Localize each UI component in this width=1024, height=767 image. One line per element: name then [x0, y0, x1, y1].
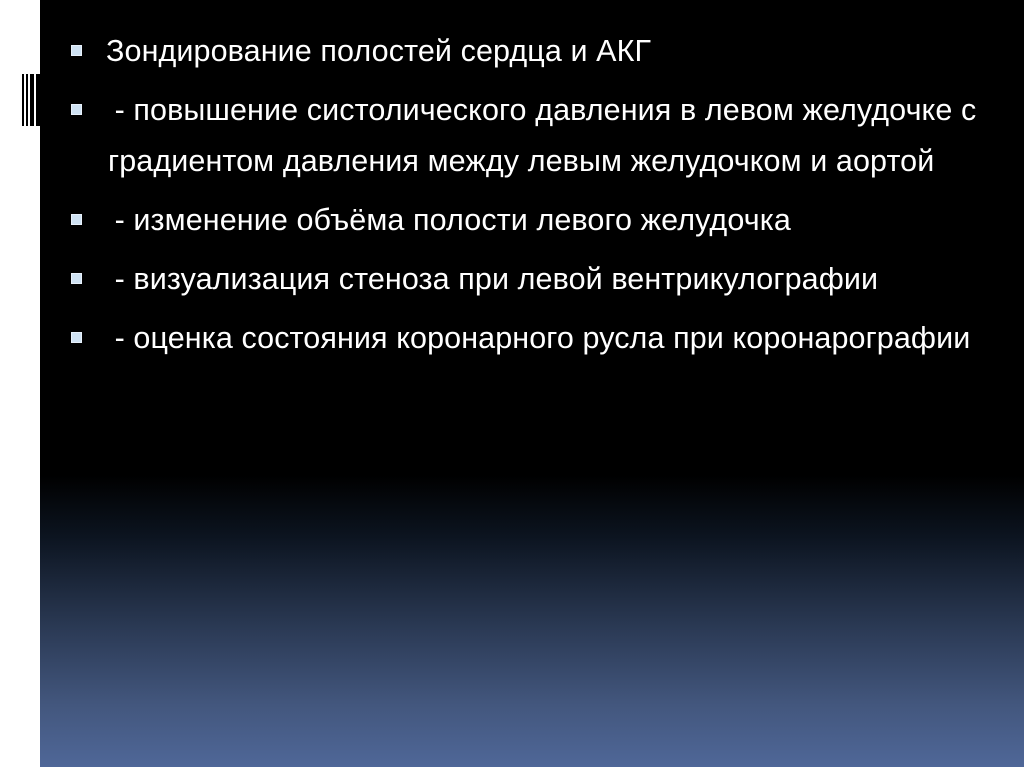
square-bullet-icon	[71, 332, 82, 343]
bullet-text: - изменение объёма полости левого желудо…	[108, 195, 1024, 246]
bullet-text: - повышение систолического давления в ле…	[108, 85, 1024, 187]
bullet-text: - визуализация стеноза при левой вентрик…	[108, 254, 1024, 305]
barcode-stripe-2	[26, 74, 28, 126]
list-item: - оценка состояния коронарного русла при…	[40, 313, 1024, 364]
list-item: - повышение систолического давления в ле…	[40, 85, 1024, 187]
list-item: - изменение объёма полости левого желудо…	[40, 195, 1024, 246]
square-bullet-icon	[71, 104, 82, 115]
barcode-stripe-1	[22, 74, 24, 126]
bullet-text: - оценка состояния коронарного русла при…	[108, 313, 1024, 364]
left-margin-strip	[0, 0, 20, 767]
barcode-decoration-icon	[22, 74, 40, 126]
accent-bar-pink-long	[26, 562, 39, 754]
accent-bar-amber	[26, 540, 39, 562]
barcode-stripe-3	[30, 74, 34, 126]
presentation-slide: Зондирование полостей сердца и АКГ - пов…	[0, 0, 1024, 767]
bullet-list: Зондирование полостей сердца и АКГ - пов…	[40, 26, 1024, 372]
accent-bar-slate	[26, 522, 39, 540]
square-bullet-icon	[71, 214, 82, 225]
list-item: Зондирование полостей сердца и АКГ	[40, 26, 1024, 77]
accent-bar-pink-top	[26, 506, 39, 522]
accent-bar-stack	[26, 506, 39, 754]
list-item: - визуализация стеноза при левой вентрик…	[40, 254, 1024, 305]
bullet-text: Зондирование полостей сердца и АКГ	[108, 26, 1024, 77]
square-bullet-icon	[71, 45, 82, 56]
slide-content-panel: Зондирование полостей сердца и АКГ - пов…	[40, 0, 1024, 767]
square-bullet-icon	[71, 273, 82, 284]
